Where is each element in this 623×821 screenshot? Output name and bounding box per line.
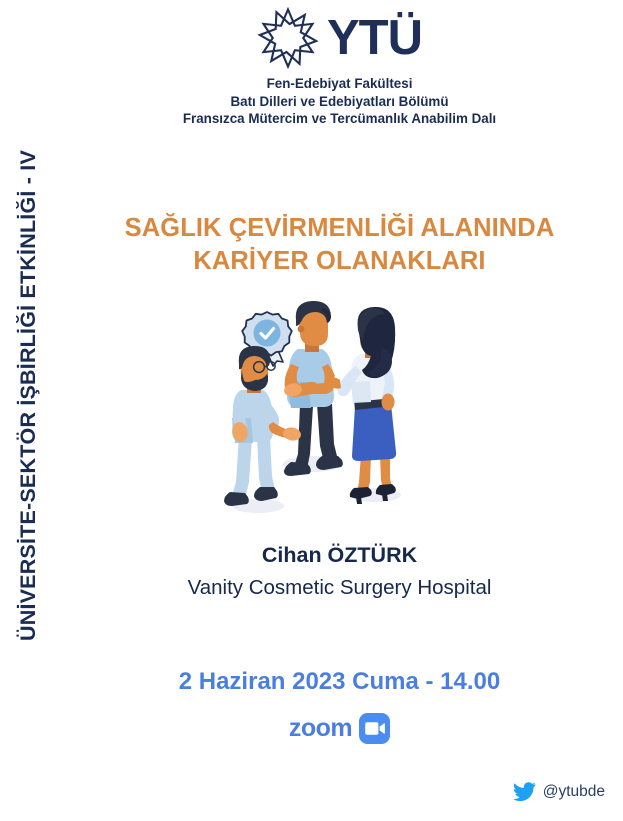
poster-title: SAĞLIK ÇEVİRMENLİĞİ ALANINDA KARİYER OLA… [56, 212, 623, 278]
faculty-line: Fen-Edebiyat Fakültesi [56, 75, 623, 93]
speaker-organization: Vanity Cosmetic Surgery Hospital [56, 573, 623, 603]
twitter-bird-icon[interactable] [513, 780, 536, 803]
ten-pointed-star-icon [257, 7, 319, 69]
title-line-2: KARİYER OLANAKLARI [56, 245, 623, 278]
speaker-block: Cihan ÖZTÜRK Vanity Cosmetic Surgery Hos… [56, 541, 623, 603]
side-banner-text: ÜNİVERSİTE-SEKTÖR İŞBİRLİĞİ ETKİNLİĞİ - … [16, 150, 41, 641]
ytu-logo: YTÜ [56, 6, 623, 70]
right-person-with-skirt [328, 307, 396, 504]
title-line-1: SAĞLIK ÇEVİRMENLİĞİ ALANINDA [56, 212, 623, 245]
center-person-standing [283, 301, 343, 476]
zoom-platform-logo: zoom [56, 707, 623, 749]
program-line: Fransızca Mütercim ve Tercümanlık Anabil… [56, 110, 623, 128]
zoom-wordmark: zoom [289, 715, 352, 741]
twitter-social-link[interactable]: @ytubde [513, 780, 605, 803]
poster-header: YTÜ Fen-Edebiyat Fakültesi Batı Dilleri … [56, 6, 623, 128]
three-people-handshake-illustration [195, 296, 430, 516]
ytu-wordmark: YTÜ [327, 13, 422, 63]
department-lines: Fen-Edebiyat Fakültesi Batı Dilleri ve E… [56, 75, 623, 128]
event-poster: ÜNİVERSİTE-SEKTÖR İŞBİRLİĞİ ETKİNLİĞİ - … [0, 0, 623, 821]
speaker-name: Cihan ÖZTÜRK [56, 541, 623, 569]
event-date-time: 2 Haziran 2023 Cuma - 14.00 [56, 667, 623, 697]
vertical-side-banner: ÜNİVERSİTE-SEKTÖR İŞBİRLİĞİ ETKİNLİĞİ - … [0, 140, 56, 650]
twitter-handle[interactable]: @ytubde [543, 783, 605, 801]
department-line: Batı Dilleri ve Edebiyatları Bölümü [56, 93, 623, 111]
zoom-camera-icon [359, 713, 390, 744]
